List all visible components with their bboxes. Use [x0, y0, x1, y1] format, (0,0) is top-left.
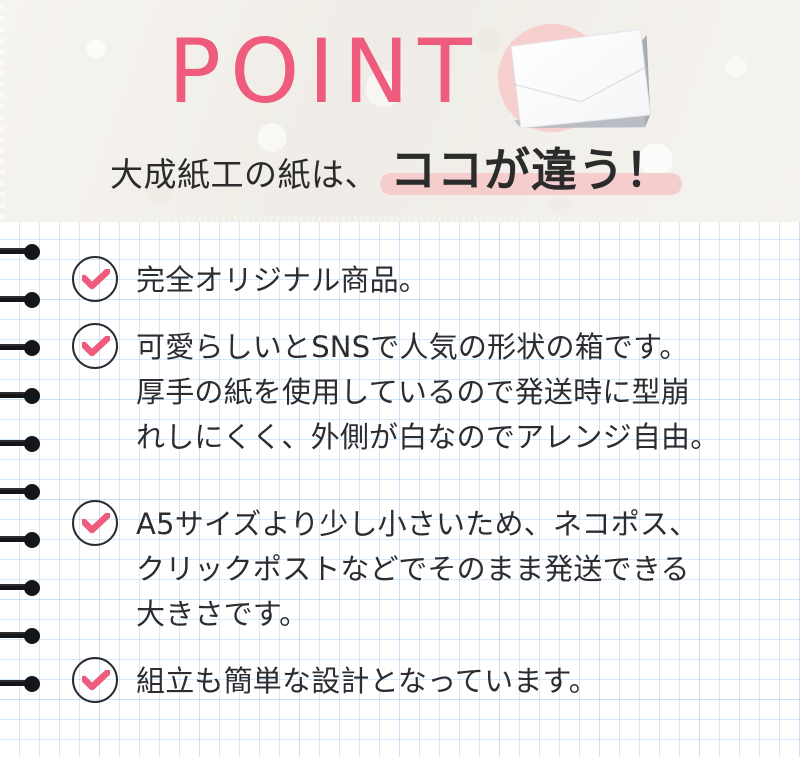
list-item: 可愛らしいとSNSで人気の形状の箱です。厚手の紙を使用しているので発送時に型崩れ…	[72, 325, 719, 460]
page-title: POINT	[168, 28, 481, 116]
paper-box-illustration	[496, 20, 656, 150]
spiral-ring-dot	[24, 388, 40, 404]
list-item: 完全オリジナル商品。	[72, 258, 428, 303]
spiral-ring	[0, 488, 40, 496]
spiral-ring	[0, 296, 40, 304]
list-item: A5サイズより少し小さいため、ネコポス、クリックポストなどでそのまま発送できる大…	[72, 502, 698, 637]
spiral-ring	[0, 344, 40, 352]
list-item-line: 完全オリジナル商品。	[136, 258, 428, 303]
list-item-text: 可愛らしいとSNSで人気の形状の箱です。厚手の紙を使用しているので発送時に型崩れ…	[136, 325, 719, 460]
subtitle-emphasis-wrapper: ココが違う！	[380, 147, 682, 193]
header-band: POINT 大	[0, 0, 800, 222]
subtitle-plain-text: 大成紙工の紙は、	[110, 158, 378, 191]
spiral-ring-dot	[24, 292, 40, 308]
paper-torn-edge-bottom	[0, 215, 800, 222]
list-item: 組立も簡単な設計となっています。	[72, 659, 598, 704]
spiral-ring-dot	[24, 436, 40, 452]
point-section: POINT 大	[0, 0, 800, 757]
list-item-line: クリックポストなどでそのまま発送できる	[136, 547, 698, 592]
paper-torn-edge-right	[794, 0, 800, 222]
list-item-line: A5サイズより少し小さいため、ネコポス、	[136, 502, 698, 547]
check-circle-icon	[72, 256, 118, 302]
spiral-ring	[0, 248, 40, 256]
list-item-line: 可愛らしいとSNSで人気の形状の箱です。	[136, 325, 719, 370]
list-item-line: 大きさです。	[136, 592, 698, 637]
spiral-ring	[0, 536, 40, 544]
spiral-ring	[0, 392, 40, 400]
spiral-ring	[0, 680, 40, 688]
check-circle-icon	[72, 323, 118, 369]
check-circle-icon	[72, 657, 118, 703]
spiral-ring-dot	[24, 628, 40, 644]
check-circle-icon	[72, 500, 118, 546]
spiral-ring-dot	[24, 244, 40, 260]
spiral-ring	[0, 632, 40, 640]
spiral-ring-dot	[24, 580, 40, 596]
subtitle-emphasis-text: ココが違う！	[390, 143, 672, 197]
spiral-ring-dot	[24, 340, 40, 356]
spiral-ring	[0, 440, 40, 448]
spiral-ring-dot	[24, 484, 40, 500]
list-item-text: A5サイズより少し小さいため、ネコポス、クリックポストなどでそのまま発送できる大…	[136, 502, 698, 637]
list-item-line: 厚手の紙を使用しているので発送時に型崩	[136, 370, 719, 415]
list-item-text: 組立も簡単な設計となっています。	[136, 659, 598, 704]
spiral-ring-dot	[24, 676, 40, 692]
spiral-ring-dot	[24, 532, 40, 548]
subtitle: 大成紙工の紙は、 ココが違う！	[110, 147, 682, 201]
box-icon	[496, 20, 656, 150]
list-item-text: 完全オリジナル商品。	[136, 258, 428, 303]
list-item-line: 組立も簡単な設計となっています。	[136, 659, 598, 704]
spiral-ring	[0, 584, 40, 592]
paper-torn-edge-left	[0, 0, 5, 222]
list-item-line: れしにくく、外側が白なのでアレンジ自由。	[136, 415, 719, 460]
